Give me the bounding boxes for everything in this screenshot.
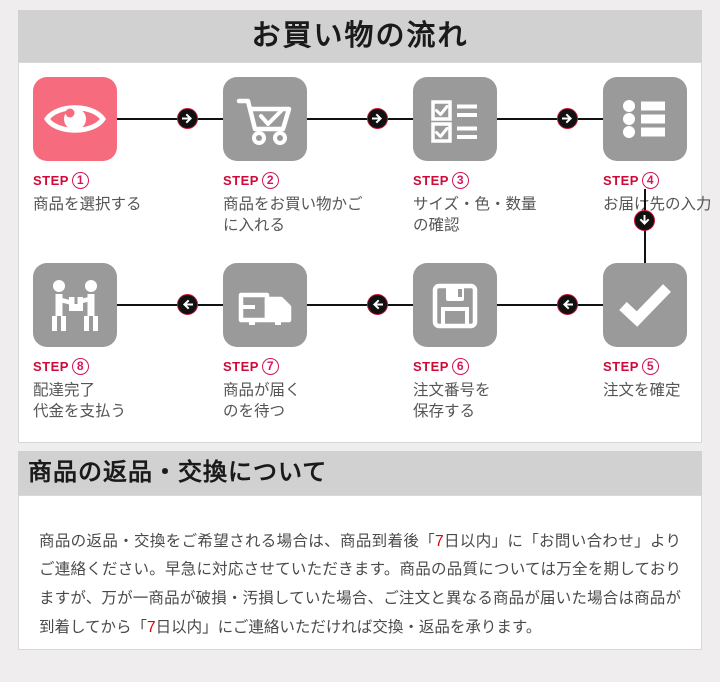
step-6-step-word: STEP <box>413 360 449 373</box>
arrow-left-6-to-7-icon <box>367 294 388 315</box>
flow-row-bottom: STEP 8 配達完了 代金を支払う <box>19 249 701 439</box>
step-7-caption: STEP 7 商品が届く のを待つ <box>223 357 383 423</box>
step-7-step-word: STEP <box>223 360 259 373</box>
arrow-down-4-to-5-icon <box>634 210 655 231</box>
step-4-tile[interactable] <box>603 77 687 161</box>
return-policy-text-segment: 商品の返品・交換をご希望される場合は、商品到着後「 <box>39 533 435 550</box>
step-5[interactable]: STEP 5 注文を確定 <box>603 249 720 402</box>
return-policy-text: 商品の返品・交換をご希望される場合は、商品到着後「7日以内」に「お問い合わせ」よ… <box>39 528 681 643</box>
arrow-left-5-to-6-icon <box>557 294 578 315</box>
step-4-description: お届け先の入力 <box>603 195 720 216</box>
step-1-label: STEP 1 <box>33 171 193 190</box>
step-2-caption: STEP 2 商品をお買い物かご に入れる <box>223 171 383 237</box>
step-5-label: STEP 5 <box>603 357 720 376</box>
step-3-number: 3 <box>452 172 469 189</box>
step-3-caption: STEP 3 サイズ・色・数量 の確認 <box>413 171 573 237</box>
eye-icon <box>33 77 117 161</box>
step-3-tile[interactable] <box>413 77 497 161</box>
step-6-tile[interactable] <box>413 263 497 347</box>
step-5-number: 5 <box>642 358 659 375</box>
step-8-number: 8 <box>72 358 89 375</box>
return-policy-panel: 商品の返品・交換をご希望される場合は、商品到着後「7日以内」に「お問い合わせ」よ… <box>18 495 702 650</box>
step-6[interactable]: STEP 6 注文番号を 保存する <box>413 249 573 423</box>
step-3[interactable]: STEP 3 サイズ・色・数量 の確認 <box>413 63 573 237</box>
step-4-label: STEP 4 <box>603 171 720 190</box>
step-6-caption: STEP 6 注文番号を 保存する <box>413 357 573 423</box>
checklist-icon <box>413 77 497 161</box>
step-5-tile[interactable] <box>603 263 687 347</box>
return-days-highlight: 7 <box>147 619 156 636</box>
step-1-step-word: STEP <box>33 174 69 187</box>
connector-line-4-to-5 <box>644 189 646 273</box>
bullet-list-icon <box>603 77 687 161</box>
step-3-description: サイズ・色・数量 の確認 <box>413 195 573 237</box>
step-8-description: 配達完了 代金を支払う <box>33 381 193 423</box>
step-1-description: 商品を選択する <box>33 195 193 216</box>
arrow-left-7-to-8-icon <box>177 294 198 315</box>
arrow-right-1-to-2-icon <box>177 108 198 129</box>
delivery-truck-icon <box>223 263 307 347</box>
step-7-number: 7 <box>262 358 279 375</box>
step-2-tile[interactable] <box>223 77 307 161</box>
step-6-number: 6 <box>452 358 469 375</box>
arrow-right-3-to-4-icon <box>557 108 578 129</box>
step-8-caption: STEP 8 配達完了 代金を支払う <box>33 357 193 423</box>
step-3-label: STEP 3 <box>413 171 573 190</box>
step-7-description: 商品が届く のを待つ <box>223 381 383 423</box>
step-1-caption: STEP 1 商品を選択する <box>33 171 193 216</box>
step-5-caption: STEP 5 注文を確定 <box>603 357 720 402</box>
return-days-highlight: 7 <box>435 533 444 550</box>
step-8-tile[interactable] <box>33 263 117 347</box>
step-1-tile[interactable] <box>33 77 117 161</box>
step-3-step-word: STEP <box>413 174 449 187</box>
step-2-label: STEP 2 <box>223 171 383 190</box>
floppy-disk-save-icon <box>413 263 497 347</box>
step-5-step-word: STEP <box>603 360 639 373</box>
return-policy-text-segment: 日以内」にご連絡いただければ交換・返品を承ります。 <box>156 619 542 636</box>
checkmark-icon <box>603 263 687 347</box>
step-4-step-word: STEP <box>603 174 639 187</box>
step-4-caption: STEP 4 お届け先の入力 <box>603 171 720 216</box>
step-8[interactable]: STEP 8 配達完了 代金を支払う <box>33 249 193 423</box>
step-4-number: 4 <box>642 172 659 189</box>
shopping-flow-page: お買い物の流れ STEP 1 <box>0 10 720 682</box>
package-handoff-icon <box>33 263 117 347</box>
step-8-step-word: STEP <box>33 360 69 373</box>
step-2-step-word: STEP <box>223 174 259 187</box>
step-2-number: 2 <box>262 172 279 189</box>
step-1[interactable]: STEP 1 商品を選択する <box>33 63 193 216</box>
step-8-label: STEP 8 <box>33 357 193 376</box>
step-5-description: 注文を確定 <box>603 381 720 402</box>
arrow-right-2-to-3-icon <box>367 108 388 129</box>
shopping-cart-icon <box>223 77 307 161</box>
return-section-title: 商品の返品・交換について <box>18 451 702 495</box>
step-7-tile[interactable] <box>223 263 307 347</box>
step-2-description: 商品をお買い物かご に入れる <box>223 195 383 237</box>
step-4[interactable]: STEP 4 お届け先の入力 <box>603 63 720 216</box>
step-6-description: 注文番号を 保存する <box>413 381 573 423</box>
flow-section-title: お買い物の流れ <box>18 10 702 62</box>
step-2[interactable]: STEP 2 商品をお買い物かご に入れる <box>223 63 383 237</box>
step-6-label: STEP 6 <box>413 357 573 376</box>
flow-diagram-panel: STEP 1 商品を選択する <box>18 62 702 443</box>
flow-row-top: STEP 1 商品を選択する <box>19 63 701 249</box>
step-1-number: 1 <box>72 172 89 189</box>
step-7-label: STEP 7 <box>223 357 383 376</box>
step-7[interactable]: STEP 7 商品が届く のを待つ <box>223 249 383 423</box>
